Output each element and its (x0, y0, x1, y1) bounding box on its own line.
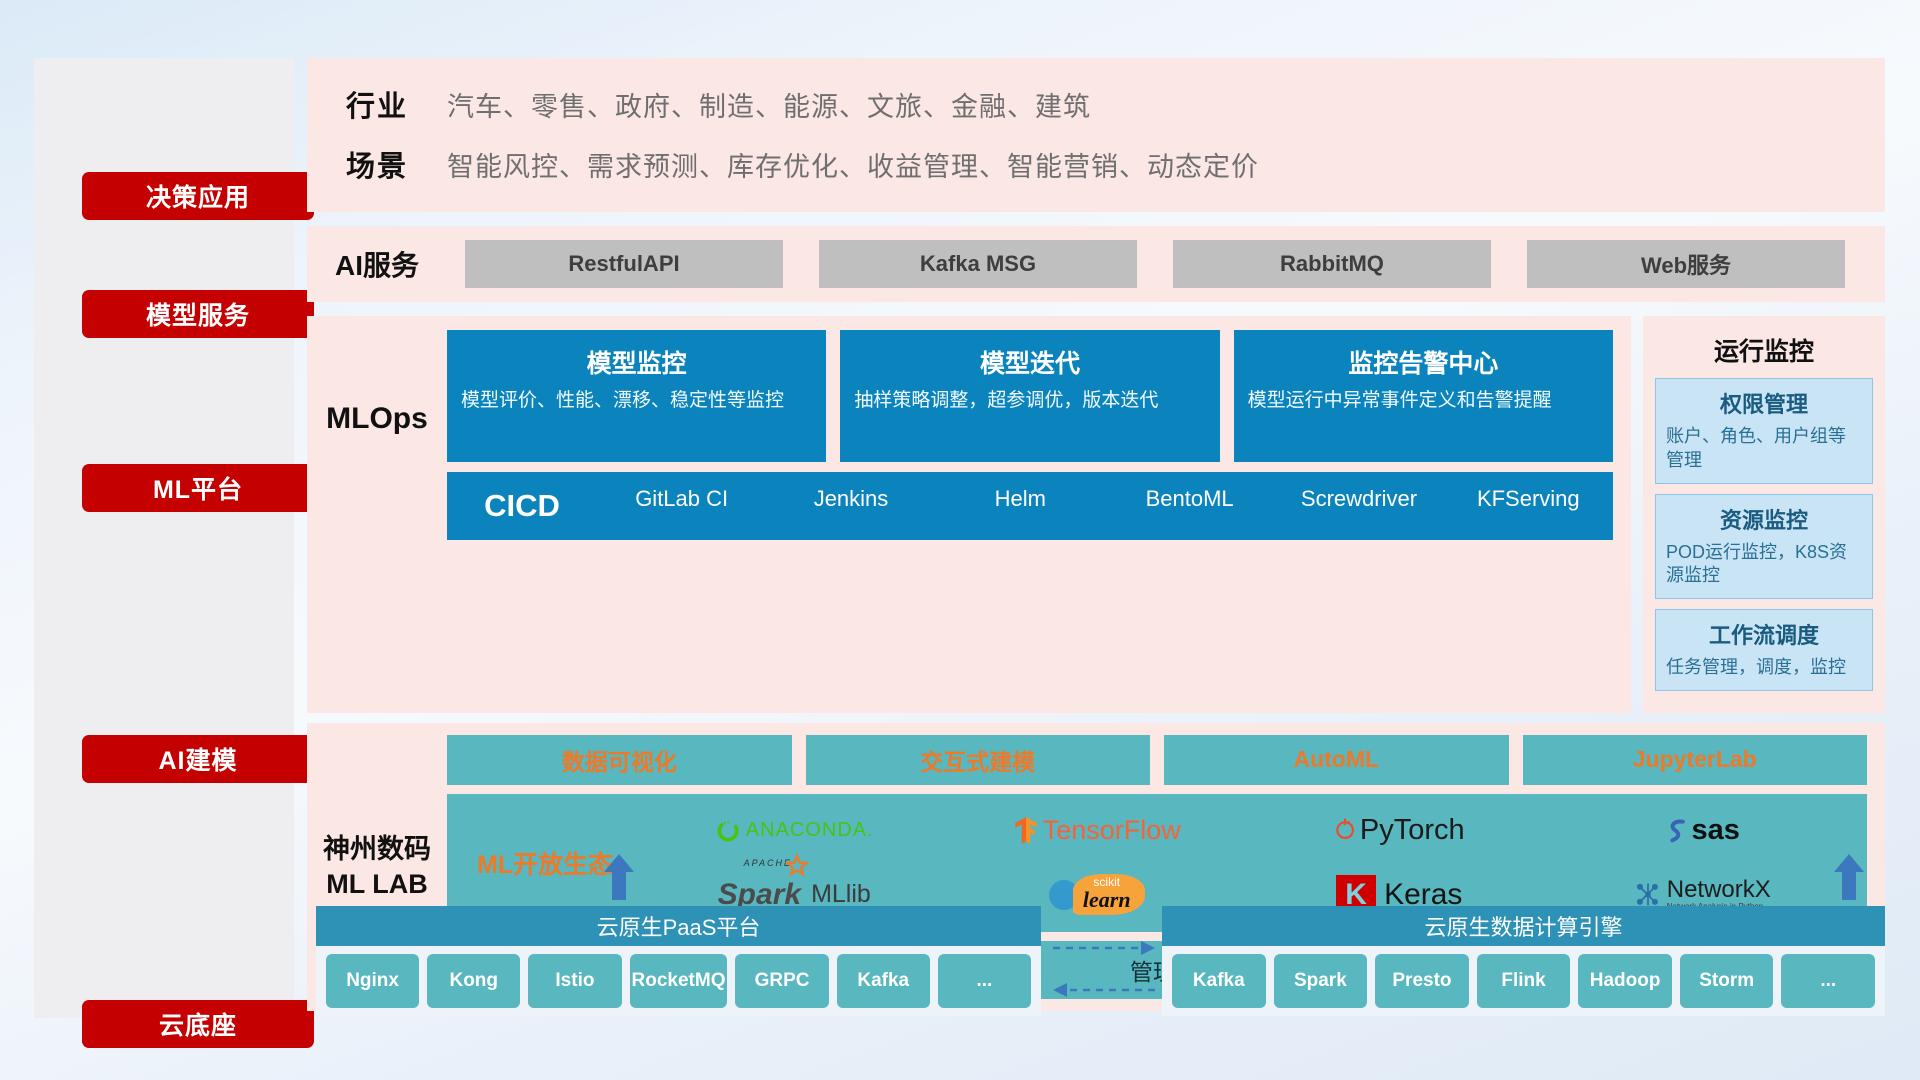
anaconda-wordmark: ANACONDA. (746, 819, 874, 842)
sas-swoosh-icon (1664, 817, 1690, 845)
industry-value: 汽车、零售、政府、制造、能源、文旅、金融、建筑 (447, 85, 1091, 124)
mlops-card-title: 模型迭代 (854, 344, 1205, 380)
chip-hadoop[interactable]: Hadoop (1578, 954, 1672, 1008)
chip-spark[interactable]: Spark (1274, 954, 1368, 1008)
chip-istio[interactable]: Istio (528, 954, 621, 1008)
spark-star-icon (784, 854, 810, 878)
cicd-title: CICD (447, 488, 597, 524)
chip-presto[interactable]: Presto (1375, 954, 1469, 1008)
chip-kong[interactable]: Kong (427, 954, 520, 1008)
chip-more[interactable]: ... (938, 954, 1031, 1008)
data-engine-group: 云原生数据计算引擎 Kafka Spark Presto Flink Hadoo… (1162, 906, 1885, 1016)
mlops-card-desc: 抽样策略调整，超参调优，版本迭代 (854, 388, 1205, 413)
service-box-rabbitmq[interactable]: RabbitMQ (1173, 240, 1491, 288)
chip-kafka[interactable]: Kafka (837, 954, 930, 1008)
monitor-card-title: 资源监控 (1666, 503, 1862, 535)
pytorch-flame-icon (1334, 818, 1356, 844)
cicd-item-bentoml[interactable]: BentoML (1105, 472, 1274, 511)
tensorflow-logo: TensorFlow (1013, 800, 1181, 862)
paas-chip-list: Nginx Kong Istio RocketMQ GRPC Kafka ... (316, 946, 1041, 1016)
tool-box-interactive-modeling[interactable]: 交互式建模 (806, 735, 1151, 785)
cicd-item-kfserving[interactable]: KFServing (1444, 472, 1613, 511)
chip-nginx[interactable]: Nginx (326, 954, 419, 1008)
data-engine-title: 云原生数据计算引擎 (1162, 906, 1885, 946)
chip-storm[interactable]: Storm (1680, 954, 1774, 1008)
tool-box-data-visualization[interactable]: 数据可视化 (447, 735, 792, 785)
tensorflow-wordmark: TensorFlow (1043, 815, 1181, 846)
chip-flink[interactable]: Flink (1477, 954, 1571, 1008)
scenario-value: 智能风控、需求预测、库存优化、收益管理、智能营销、动态定价 (447, 145, 1259, 184)
chip-more-de[interactable]: ... (1781, 954, 1875, 1008)
monitor-card-title: 工作流调度 (1666, 618, 1862, 650)
architecture-diagram: 决策应用 模型服务 ML平台 AI建模 云底座 行业 汽车、零售、政府、制造、能… (0, 0, 1920, 1080)
rail-item-model-service[interactable]: 模型服务 (82, 290, 314, 338)
mlops-card-title: 监控告警中心 (1248, 344, 1599, 380)
chip-grpc[interactable]: GRPC (735, 954, 828, 1008)
mlops-card-desc: 模型评价、性能、漂移、稳定性等监控 (461, 388, 812, 413)
ai-service-label: AI服务 (307, 244, 447, 284)
cicd-item-gitlab-ci[interactable]: GitLab CI (597, 472, 766, 511)
service-box-kafka-msg[interactable]: Kafka MSG (819, 240, 1137, 288)
mlops-panel: MLOps 模型监控 模型评价、性能、漂移、稳定性等监控 模型迭代 抽样策略调整… (307, 316, 1631, 713)
industry-row: 行业 汽车、零售、政府、制造、能源、文旅、金融、建筑 (307, 74, 1885, 134)
monitor-card-resource[interactable]: 资源监控 POD运行监控，K8S资源监控 (1655, 494, 1873, 600)
service-box-restfulapi[interactable]: RestfulAPI (465, 240, 783, 288)
tool-box-jupyterlab[interactable]: JupyterLab (1523, 735, 1868, 785)
cicd-item-jenkins[interactable]: Jenkins (766, 472, 935, 511)
decision-application-band: 行业 汽车、零售、政府、制造、能源、文旅、金融、建筑 场景 智能风控、需求预测、… (307, 58, 1885, 212)
runtime-monitor-title: 运行监控 (1655, 326, 1873, 378)
pytorch-logo: PyTorch (1334, 800, 1465, 862)
paas-title: 云原生PaaS平台 (316, 906, 1041, 946)
ai-service-list: RestfulAPI Kafka MSG RabbitMQ Web服务 (447, 240, 1885, 288)
bidirectional-link-arrows-icon (1049, 934, 1159, 1004)
rail-item-cloud-base[interactable]: 云底座 (82, 1000, 314, 1048)
mlops-card-model-iteration[interactable]: 模型迭代 抽样策略调整，超参调优，版本迭代 (840, 330, 1219, 462)
cicd-bar: CICD GitLab CI Jenkins Helm BentoML Scre… (447, 472, 1613, 540)
monitor-card-desc: POD运行监控，K8S资源监控 (1666, 541, 1862, 589)
scenario-row: 场景 智能风控、需求预测、库存优化、收益管理、智能营销、动态定价 (307, 134, 1885, 194)
main-stack: 行业 汽车、零售、政府、制造、能源、文旅、金融、建筑 场景 智能风控、需求预测、… (307, 58, 1885, 1011)
cicd-item-screwdriver[interactable]: Screwdriver (1274, 472, 1443, 511)
mlops-card-row: 模型监控 模型评价、性能、漂移、稳定性等监控 模型迭代 抽样策略调整，超参调优，… (447, 330, 1613, 462)
mlops-card-alert-center[interactable]: 监控告警中心 模型运行中异常事件定义和告警提醒 (1234, 330, 1613, 462)
chip-kafka-de[interactable]: Kafka (1172, 954, 1266, 1008)
ai-service-band: AI服务 RestfulAPI Kafka MSG RabbitMQ Web服务 (307, 226, 1885, 302)
tensorflow-mark-icon (1013, 816, 1039, 846)
monitor-card-desc: 任务管理，调度，监控 (1666, 656, 1862, 680)
mlops-card-title: 模型监控 (461, 344, 812, 380)
runtime-monitor-panel: 运行监控 权限管理 账户、角色、用户组等管理 资源监控 POD运行监控，K8S资… (1643, 316, 1885, 713)
tool-box-automl[interactable]: AutoML (1164, 735, 1509, 785)
cicd-item-helm[interactable]: Helm (936, 472, 1105, 511)
rail-item-ai-modeling[interactable]: AI建模 (82, 735, 314, 783)
scenario-label: 场景 (307, 143, 447, 185)
rail-item-ml-platform[interactable]: ML平台 (82, 464, 314, 512)
service-box-web[interactable]: Web服务 (1527, 240, 1845, 288)
chip-rocketmq[interactable]: RocketMQ (630, 954, 728, 1008)
modeling-tool-row: 数据可视化 交互式建模 AutoML JupyterLab (447, 735, 1867, 785)
anaconda-ring-icon (715, 818, 741, 844)
mlops-card-model-monitor[interactable]: 模型监控 模型评价、性能、漂移、稳定性等监控 (447, 330, 826, 462)
pytorch-wordmark: PyTorch (1360, 814, 1465, 847)
monitor-card-permission[interactable]: 权限管理 账户、角色、用户组等管理 (1655, 378, 1873, 484)
arrow-up-paas-icon (602, 854, 636, 900)
data-engine-chip-list: Kafka Spark Presto Flink Hadoop Storm ..… (1162, 946, 1885, 1016)
sas-logo: sas (1664, 800, 1740, 862)
arrow-up-data-engine-icon (1832, 854, 1866, 900)
mlops-card-desc: 模型运行中异常事件定义和告警提醒 (1248, 388, 1599, 413)
mlops-content: 模型监控 模型评价、性能、漂移、稳定性等监控 模型迭代 抽样策略调整，超参调优，… (447, 330, 1631, 540)
ml-platform-band: MLOps 模型监控 模型评价、性能、漂移、稳定性等监控 模型迭代 抽样策略调整… (307, 316, 1885, 713)
monitor-card-title: 权限管理 (1666, 387, 1862, 419)
anaconda-logo: ANACONDA. (715, 800, 874, 862)
rail-item-decision[interactable]: 决策应用 (82, 172, 314, 220)
monitor-card-workflow[interactable]: 工作流调度 任务管理，调度，监控 (1655, 609, 1873, 691)
monitor-card-desc: 账户、角色、用户组等管理 (1666, 425, 1862, 473)
paas-group: 云原生PaaS平台 Nginx Kong Istio RocketMQ GRPC… (316, 906, 1041, 1016)
mlops-label: MLOps (307, 330, 447, 436)
industry-label: 行业 (307, 83, 447, 125)
ml-lab-label-line1: 神州数码 (323, 834, 431, 864)
sas-wordmark: sas (1692, 814, 1740, 847)
cloud-foundation-band: 云原生PaaS平台 Nginx Kong Istio RocketMQ GRPC… (307, 882, 1885, 1022)
layer-rail: 决策应用 模型服务 ML平台 AI建模 云底座 (34, 58, 294, 1018)
